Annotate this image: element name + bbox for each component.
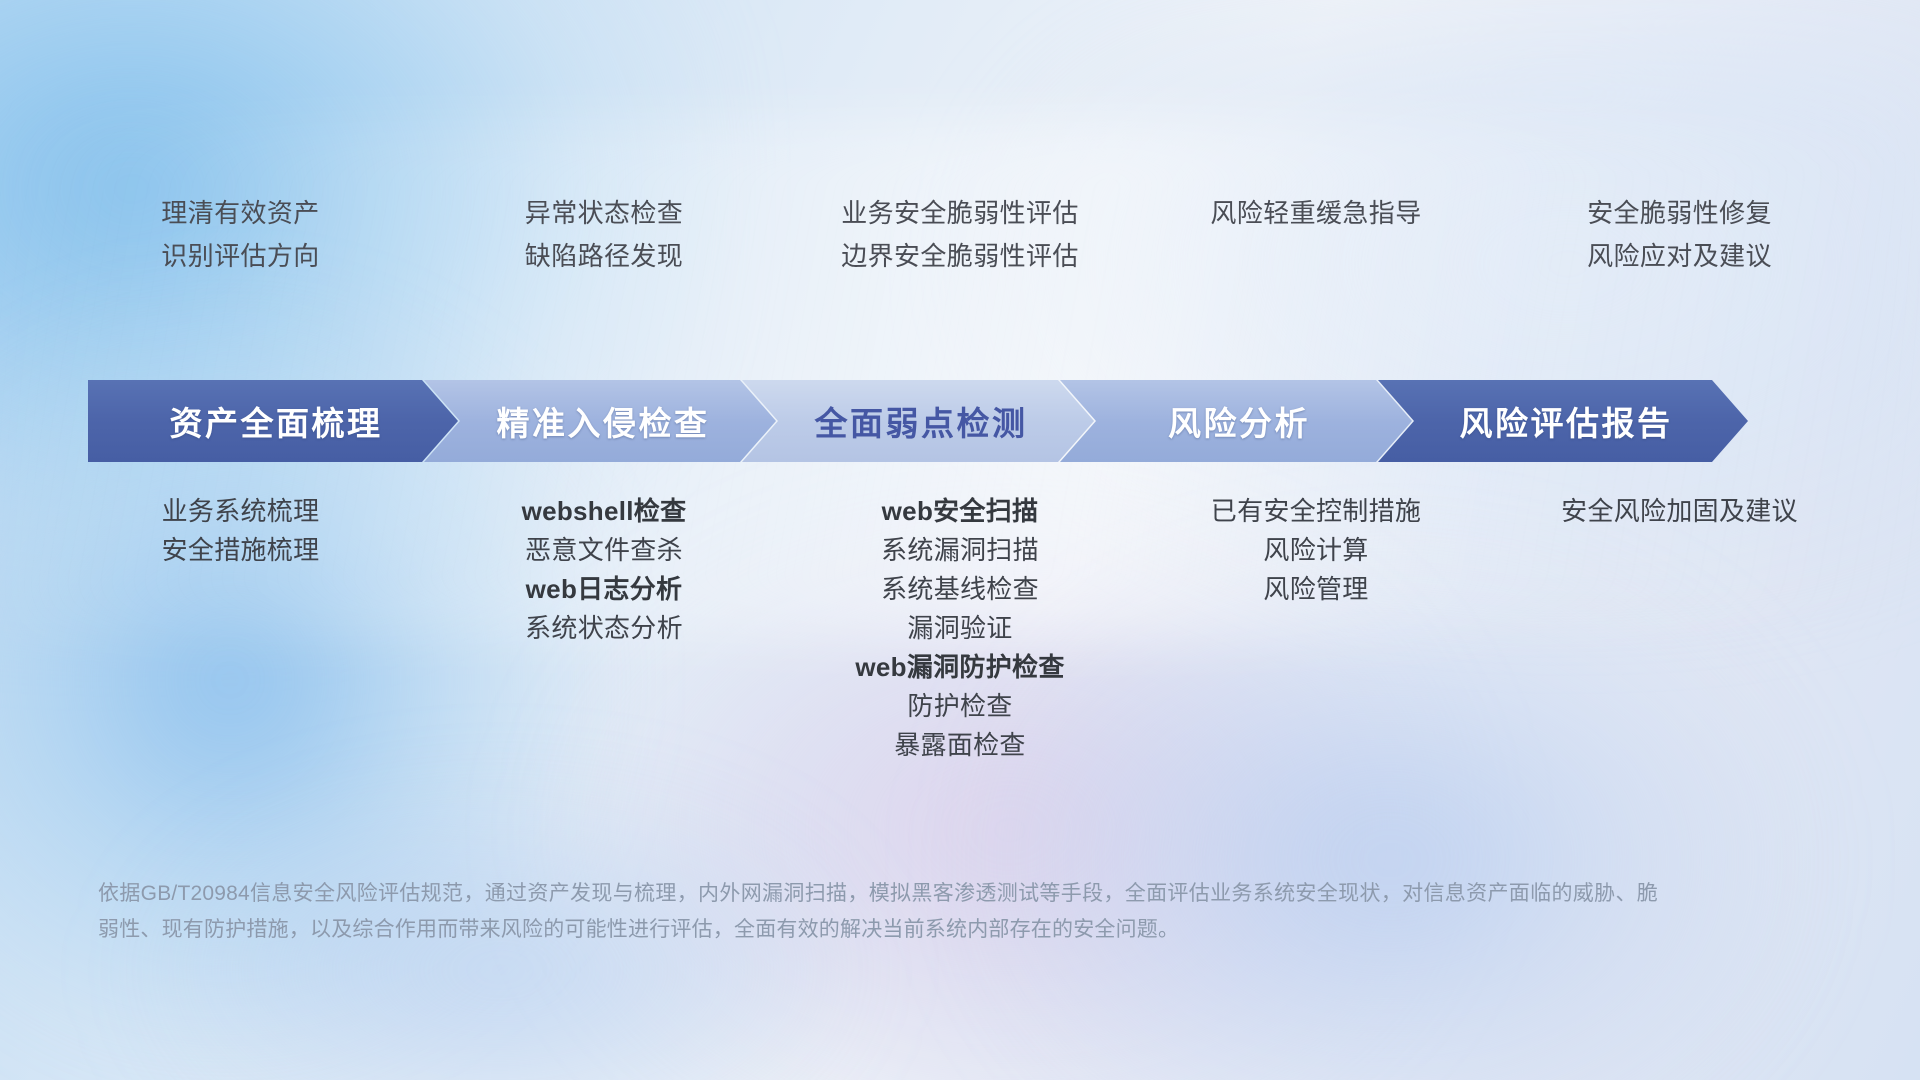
top-note: 理清有效资产 bbox=[88, 192, 393, 235]
chevron-stage-assessment-report[interactable]: 风险评估报告 bbox=[1378, 380, 1748, 462]
chevron-stage-risk-analysis[interactable]: 风险分析 bbox=[1060, 380, 1412, 462]
bottom-item: 防护检查 bbox=[815, 687, 1105, 726]
top-notes-col-weakness-detection: 业务安全脆弱性评估边界安全脆弱性评估 bbox=[815, 192, 1105, 278]
bottom-item: 业务系统梳理 bbox=[88, 492, 393, 531]
bottom-item: 系统基线检查 bbox=[815, 570, 1105, 609]
chevron-label: 全面弱点检测 bbox=[809, 397, 1028, 445]
top-note: 识别评估方向 bbox=[88, 235, 393, 278]
top-note: 业务安全脆弱性评估 bbox=[815, 192, 1105, 235]
chevron-label: 风险分析 bbox=[1162, 397, 1310, 445]
bottom-item: 已有安全控制措施 bbox=[1171, 492, 1461, 531]
bottom-items-col-assessment-report: 安全风险加固及建议 bbox=[1527, 492, 1832, 765]
top-notes-col-assessment-report: 安全脆弱性修复风险应对及建议 bbox=[1527, 192, 1832, 278]
bottom-item: 风险计算 bbox=[1171, 531, 1461, 570]
bottom-item: 漏洞验证 bbox=[815, 609, 1105, 648]
top-notes-col-asset-inventory: 理清有效资产识别评估方向 bbox=[88, 192, 393, 278]
bottom-items-col-asset-inventory: 业务系统梳理安全措施梳理 bbox=[88, 492, 393, 765]
bottom-item: 安全措施梳理 bbox=[88, 531, 393, 570]
slide-canvas: 理清有效资产识别评估方向异常状态检查缺陷路径发现业务安全脆弱性评估边界安全脆弱性… bbox=[0, 0, 1920, 1080]
chevron-label: 风险评估报告 bbox=[1454, 397, 1673, 445]
bottom-item: web漏洞防护检查 bbox=[815, 648, 1105, 687]
bottom-item: web日志分析 bbox=[459, 570, 749, 609]
top-notes-col-intrusion-check: 异常状态检查缺陷路径发现 bbox=[459, 192, 749, 278]
chevron-stage-weakness-detection[interactable]: 全面弱点检测 bbox=[742, 380, 1094, 462]
chevron-label: 精准入侵检查 bbox=[491, 397, 710, 445]
bottom-item: web安全扫描 bbox=[815, 492, 1105, 531]
top-note: 风险应对及建议 bbox=[1527, 235, 1832, 278]
top-note: 安全脆弱性修复 bbox=[1527, 192, 1832, 235]
bottom-items-col-risk-analysis: 已有安全控制措施风险计算风险管理 bbox=[1171, 492, 1461, 765]
top-note: 异常状态检查 bbox=[459, 192, 749, 235]
bottom-item: 恶意文件查杀 bbox=[459, 531, 749, 570]
chevron-stage-asset-inventory[interactable]: 资产全面梳理 bbox=[88, 380, 458, 462]
bottom-items-col-intrusion-check: webshell检查恶意文件查杀web日志分析系统状态分析 bbox=[459, 492, 749, 765]
bottom-item: 系统漏洞扫描 bbox=[815, 531, 1105, 570]
top-notes-col-risk-analysis: 风险轻重缓急指导 bbox=[1171, 192, 1461, 278]
chevron-label: 资产全面梳理 bbox=[164, 397, 383, 445]
footer-description: 依据GB/T20984信息安全风险评估规范，通过资产发现与梳理，内外网漏洞扫描，… bbox=[98, 876, 1658, 948]
bottom-item: 安全风险加固及建议 bbox=[1527, 492, 1832, 531]
bottom-details-row: 业务系统梳理安全措施梳理webshell检查恶意文件查杀web日志分析系统状态分… bbox=[88, 492, 1832, 765]
top-note: 边界安全脆弱性评估 bbox=[815, 235, 1105, 278]
top-note: 风险轻重缓急指导 bbox=[1171, 192, 1461, 235]
chevron-stage-intrusion-check[interactable]: 精准入侵检查 bbox=[424, 380, 776, 462]
process-chevron-band: 资产全面梳理精准入侵检查全面弱点检测风险分析风险评估报告 bbox=[88, 380, 1832, 462]
bottom-item: webshell检查 bbox=[459, 492, 749, 531]
bottom-item: 暴露面检查 bbox=[815, 726, 1105, 765]
bottom-items-col-weakness-detection: web安全扫描系统漏洞扫描系统基线检查漏洞验证web漏洞防护检查防护检查暴露面检… bbox=[815, 492, 1105, 765]
top-note: 缺陷路径发现 bbox=[459, 235, 749, 278]
top-notes-row: 理清有效资产识别评估方向异常状态检查缺陷路径发现业务安全脆弱性评估边界安全脆弱性… bbox=[88, 192, 1832, 278]
bottom-item: 系统状态分析 bbox=[459, 609, 749, 648]
bottom-item: 风险管理 bbox=[1171, 570, 1461, 609]
